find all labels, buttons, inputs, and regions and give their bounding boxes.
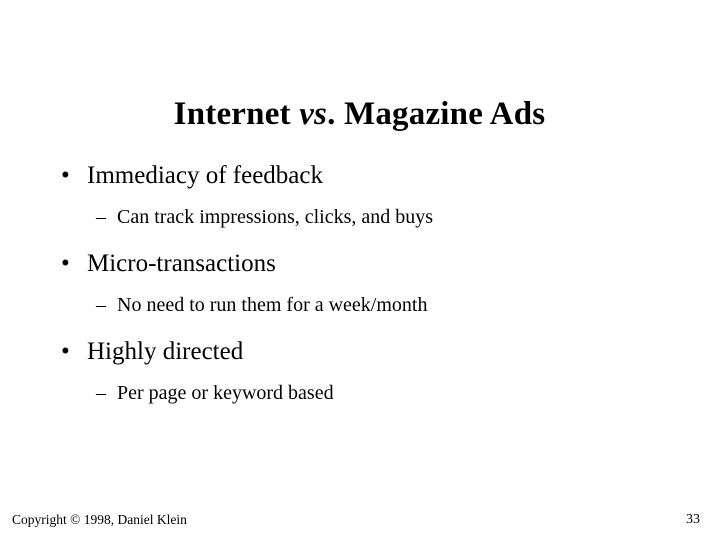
bullet-level2-label: Can track impressions, clicks, and buys (117, 206, 433, 228)
bullet-level2-label: No need to run them for a week/month (117, 294, 427, 316)
slide-title-suffix: . Magazine Ads (327, 96, 545, 132)
slide-title-emphasis: vs (299, 96, 327, 132)
bullet-dot-icon: • (61, 248, 70, 279)
bullet-dot-icon: • (61, 336, 70, 367)
bullet-level2-label: Per page or keyword based (117, 382, 334, 404)
outline-group-1: • Immediacy of feedback – Can track impr… (0, 160, 719, 248)
bullet-level1-label: Highly directed (87, 338, 243, 365)
page-number: 33 (686, 511, 700, 528)
outline-group-3: • Highly directed – Per page or keyword … (0, 336, 719, 424)
footer-copyright: Copyright © 1998, Daniel Klein (12, 511, 187, 528)
bullet-level1-label: Micro-transactions (87, 250, 276, 277)
bullet-dot-icon: • (61, 160, 70, 191)
bullet-level2-item: – No need to run them for a week/month (0, 292, 719, 336)
outline-group-2: • Micro-transactions – No need to run th… (0, 248, 719, 336)
bullet-level2-item: – Per page or keyword based (0, 380, 719, 424)
bullet-dash-icon: – (96, 204, 106, 230)
bullet-level1-item: • Highly directed (0, 336, 719, 380)
bullet-level2-item: – Can track impressions, clicks, and buy… (0, 204, 719, 248)
bullet-level1-label: Immediacy of feedback (87, 162, 323, 189)
bullet-level1-item: • Immediacy of feedback (0, 160, 719, 204)
slide-title: Internet vs. Magazine Ads (0, 94, 719, 134)
slide-title-prefix: Internet (174, 96, 300, 132)
slide-canvas: Internet vs. Magazine Ads • Immediacy of… (0, 0, 719, 539)
slide-body-outline: • Immediacy of feedback – Can track impr… (0, 160, 719, 424)
bullet-dash-icon: – (96, 292, 106, 318)
bullet-dash-icon: – (96, 380, 106, 406)
bullet-level1-item: • Micro-transactions (0, 248, 719, 292)
